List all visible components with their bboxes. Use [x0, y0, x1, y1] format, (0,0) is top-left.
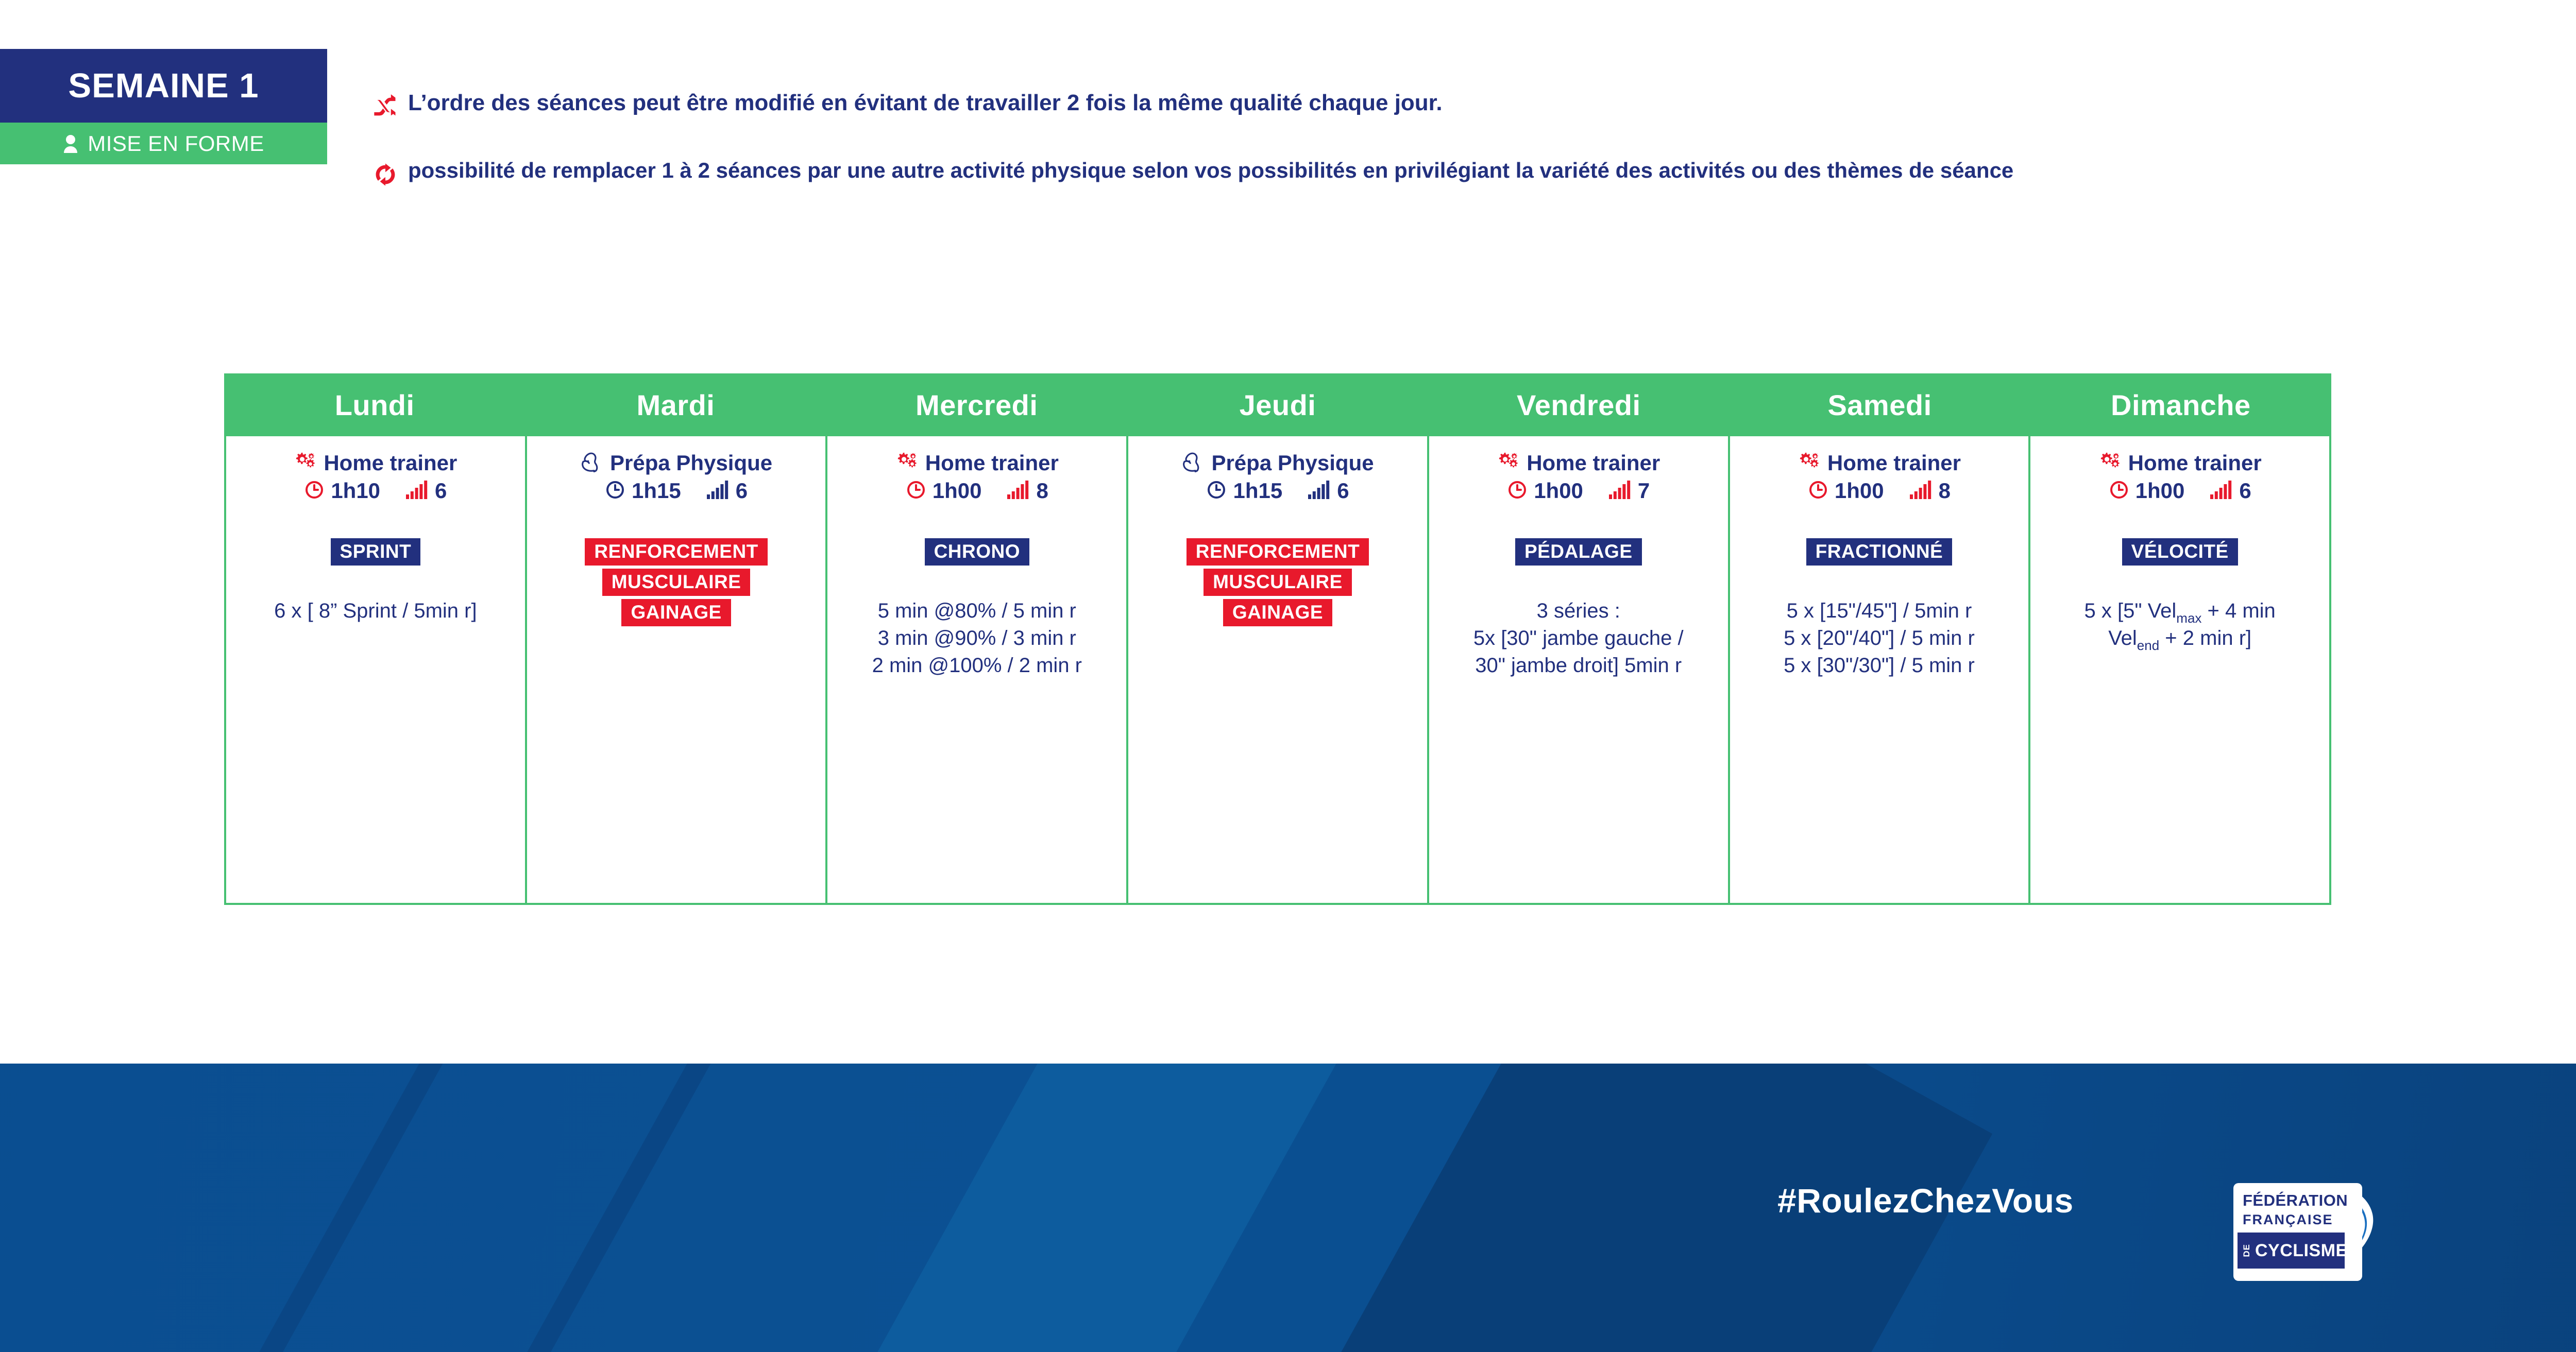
day-cell-jeudi: Prépa Physique1h156RENFORCEMENTMUSCULAIR… — [1128, 436, 1429, 903]
weekly-schedule-table: Lundi Mardi Mercredi Jeudi Vendredi Same… — [224, 373, 2331, 905]
description-line: 5 x [30"/30"] / 5 min r — [1737, 652, 2022, 679]
gears-icon — [294, 452, 316, 475]
session-tags: FRACTIONNÉ — [1737, 538, 2022, 566]
training-plan-page: SEMAINE 1 MISE EN FORME L’ordre des séan… — [0, 0, 2576, 1352]
biceps-icon — [1181, 452, 1204, 475]
session-description: 5 min @80% / 5 min r3 min @90% / 3 min r… — [835, 597, 1119, 679]
activity-line: Prépa Physique — [1181, 451, 1374, 475]
logo-line-francaise: FRANÇAISE — [2243, 1213, 2333, 1227]
note-row: L’ordre des séances peut être modifié en… — [372, 90, 2464, 120]
duration-value: 1h00 — [2136, 478, 2185, 503]
day-cell-vendredi: Home trainer1h007PÉDALAGE3 séries :5x [3… — [1429, 436, 1730, 903]
session-meta-line: 1h008 — [1808, 478, 1951, 503]
schedule-header-row: Lundi Mardi Mercredi Jeudi Vendredi Same… — [224, 373, 2331, 436]
activity-label: Home trainer — [2128, 451, 2262, 475]
session-tag: GAINAGE — [1223, 599, 1332, 626]
description-text: + 4 min — [2201, 600, 2275, 622]
person-icon — [63, 134, 78, 153]
session-description: 6 x [ 8” Sprint / 5min r] — [233, 597, 518, 625]
session-description: 5 x [5" Velmax + 4 minVelend + 2 min r] — [2038, 597, 2322, 652]
session-tags: CHRONO — [835, 538, 1119, 566]
description-text: Vel — [2108, 627, 2137, 649]
clock-icon — [304, 480, 325, 503]
note-text: possibilité de remplacer 1 à 2 séances p… — [408, 158, 2013, 183]
session-tag: PÉDALAGE — [1515, 538, 1642, 566]
session-tags: VÉLOCITÉ — [2038, 538, 2322, 566]
signal-bars-icon — [1609, 481, 1632, 502]
schedule-body-row: Home trainer1h106SPRINT6 x [ 8” Sprint /… — [224, 436, 2331, 905]
intensity-value: 6 — [1337, 478, 1349, 503]
description-line: Velend + 2 min r] — [2038, 625, 2322, 652]
activity-label: Prépa Physique — [1211, 451, 1374, 475]
day-header-vendredi: Vendredi — [1428, 373, 1729, 436]
activity-line: Home trainer — [2098, 451, 2262, 475]
clock-icon — [1206, 480, 1227, 503]
repeat-icon — [372, 161, 399, 188]
session-tag: MUSCULAIRE — [1204, 569, 1352, 596]
day-cell-lundi: Home trainer1h106SPRINT6 x [ 8” Sprint /… — [226, 436, 527, 903]
campaign-hashtag: #RoulezChezVous — [1777, 1181, 2074, 1220]
week-badge: SEMAINE 1 MISE EN FORME — [0, 49, 327, 164]
session-tag: CHRONO — [925, 538, 1029, 566]
activity-line: Home trainer — [1497, 451, 1660, 475]
session-tag: RENFORCEMENT — [1187, 538, 1369, 566]
session-tags: RENFORCEMENTMUSCULAIREGAINAGE — [1136, 538, 1420, 626]
day-header-dimanche: Dimanche — [2030, 373, 2331, 436]
intensity-value: 6 — [2239, 478, 2251, 503]
session-meta-line: 1h156 — [1206, 478, 1349, 503]
day-cell-mercredi: Home trainer1h008CHRONO5 min @80% / 5 mi… — [827, 436, 1128, 903]
duration-value: 1h00 — [1835, 478, 1884, 503]
description-line: 5 x [15"/45"] / 5min r — [1737, 597, 2022, 625]
session-tag: RENFORCEMENT — [585, 538, 767, 566]
description-text: 5 x [5" Vel — [2084, 600, 2177, 622]
duration-value: 1h15 — [632, 478, 681, 503]
intensity-value: 7 — [1638, 478, 1650, 503]
week-subtitle-label: MISE EN FORME — [88, 131, 264, 156]
description-line: 3 min @90% / 3 min r — [835, 625, 1119, 652]
clock-icon — [2109, 480, 2129, 503]
gears-icon — [2098, 452, 2121, 475]
logo-line-federation: FÉDÉRATION — [2243, 1192, 2348, 1208]
activity-line: Prépa Physique — [580, 451, 772, 475]
logo-de-label: DE — [2242, 1244, 2252, 1257]
intensity-value: 8 — [1036, 478, 1048, 503]
description-line: 30" jambe droit] 5min r — [1436, 652, 1721, 679]
intensity-value: 6 — [736, 478, 748, 503]
session-meta-line: 1h006 — [2109, 478, 2251, 503]
gears-icon — [895, 452, 918, 475]
biceps-icon — [580, 452, 603, 475]
intensity-value: 6 — [435, 478, 447, 503]
description-line: 5x [30" jambe gauche / — [1436, 625, 1721, 652]
description-subscript: max — [2176, 610, 2201, 626]
session-tags: SPRINT — [233, 538, 518, 566]
ffc-logo: FÉDÉRATION FRANÇAISE DE CYCLISME — [2233, 1183, 2383, 1289]
signal-bars-icon — [707, 481, 730, 502]
session-tag: GAINAGE — [621, 599, 731, 626]
clock-icon — [605, 480, 625, 503]
clock-icon — [1808, 480, 1828, 503]
duration-value: 1h15 — [1233, 478, 1282, 503]
day-header-jeudi: Jeudi — [1127, 373, 1428, 436]
page-footer: #RoulezChezVous FÉDÉRATION FRANÇAISE DE … — [0, 1064, 2576, 1352]
description-text: + 2 min r] — [2159, 627, 2251, 649]
week-subtitle-bar: MISE EN FORME — [0, 123, 327, 164]
day-cell-dimanche: Home trainer1h006VÉLOCITÉ5 x [5" Velmax … — [2030, 436, 2329, 903]
clock-icon — [1507, 480, 1528, 503]
session-meta-line: 1h156 — [605, 478, 748, 503]
clock-icon — [906, 480, 926, 503]
description-line: 5 x [20"/40"] / 5 min r — [1737, 625, 2022, 652]
note-row: possibilité de remplacer 1 à 2 séances p… — [372, 158, 2464, 188]
session-meta-line: 1h008 — [906, 478, 1048, 503]
day-header-mardi: Mardi — [525, 373, 826, 436]
signal-bars-icon — [1910, 481, 1933, 502]
activity-line: Home trainer — [1798, 451, 1961, 475]
session-description: 5 x [15"/45"] / 5min r5 x [20"/40"] / 5 … — [1737, 597, 2022, 679]
session-tag: VÉLOCITÉ — [2122, 538, 2238, 566]
activity-label: Home trainer — [925, 451, 1059, 475]
intensity-value: 8 — [1939, 478, 1951, 503]
session-tag: FRACTIONNÉ — [1806, 538, 1953, 566]
logo-cyclisme-label: CYCLISME — [2255, 1241, 2348, 1261]
activity-line: Home trainer — [294, 451, 457, 475]
signal-bars-icon — [1007, 481, 1030, 502]
duration-value: 1h10 — [331, 478, 380, 503]
session-tags: PÉDALAGE — [1436, 538, 1721, 566]
day-header-lundi: Lundi — [224, 373, 525, 436]
session-meta-line: 1h007 — [1507, 478, 1650, 503]
day-cell-samedi: Home trainer1h008FRACTIONNÉ5 x [15"/45"]… — [1730, 436, 2031, 903]
duration-value: 1h00 — [933, 478, 982, 503]
description-line: 6 x [ 8” Sprint / 5min r] — [233, 597, 518, 625]
day-cell-mardi: Prépa Physique1h156RENFORCEMENTMUSCULAIR… — [527, 436, 828, 903]
logo-cyclisme-bar: DE CYCLISME — [2238, 1233, 2345, 1269]
description-line: 5 min @80% / 5 min r — [835, 597, 1119, 625]
day-header-mercredi: Mercredi — [826, 373, 1127, 436]
week-title: SEMAINE 1 — [0, 49, 327, 123]
activity-label: Home trainer — [1527, 451, 1660, 475]
session-tag: SPRINT — [331, 538, 421, 566]
signal-bars-icon — [2210, 481, 2233, 502]
session-tag: MUSCULAIRE — [602, 569, 751, 596]
description-line: 5 x [5" Velmax + 4 min — [2038, 597, 2322, 625]
duration-value: 1h00 — [1534, 478, 1583, 503]
gears-icon — [1497, 452, 1519, 475]
note-text: L’ordre des séances peut être modifié en… — [408, 90, 1443, 116]
day-header-samedi: Samedi — [1729, 373, 2030, 436]
activity-label: Prépa Physique — [610, 451, 772, 475]
description-line: 2 min @100% / 2 min r — [835, 652, 1119, 679]
activity-line: Home trainer — [895, 451, 1059, 475]
logo-card: FÉDÉRATION FRANÇAISE DE CYCLISME — [2233, 1183, 2362, 1281]
session-description: 3 séries :5x [30" jambe gauche /30" jamb… — [1436, 597, 1721, 679]
description-line: 3 séries : — [1436, 597, 1721, 625]
shuffle-icon — [372, 93, 399, 120]
session-meta-line: 1h106 — [304, 478, 447, 503]
signal-bars-icon — [1308, 481, 1331, 502]
description-subscript: end — [2137, 638, 2159, 653]
activity-label: Home trainer — [324, 451, 457, 475]
gears-icon — [1798, 452, 1820, 475]
signal-bars-icon — [406, 481, 429, 502]
notes-block: L’ordre des séances peut être modifié en… — [372, 90, 2464, 226]
activity-label: Home trainer — [1827, 451, 1961, 475]
session-tags: RENFORCEMENTMUSCULAIREGAINAGE — [534, 538, 819, 626]
